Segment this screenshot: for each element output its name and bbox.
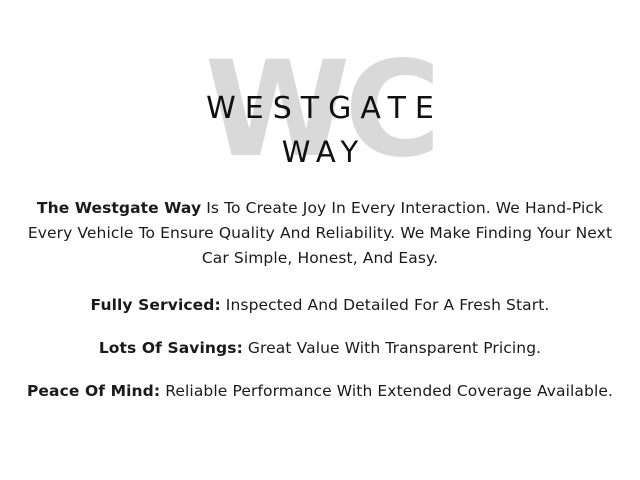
feature-peace-of-mind-rest: Reliable Performance With Extended Cover… <box>160 382 613 400</box>
feature-lots-of-savings-rest: Great Value With Transparent Pricing. <box>243 339 541 357</box>
feature-fully-serviced: Fully Serviced: Inspected And Detailed F… <box>14 293 626 318</box>
logo-word-westgate: WESTGATE <box>0 93 640 125</box>
intro-lead: The Westgate Way <box>37 199 201 217</box>
feature-fully-serviced-lead: Fully Serviced: <box>91 296 221 314</box>
feature-peace-of-mind: Peace Of Mind: Reliable Performance With… <box>14 379 626 404</box>
feature-peace-of-mind-lead: Peace Of Mind: <box>27 382 160 400</box>
logo-wordmark: WESTGATE WAY <box>0 93 640 167</box>
feature-lots-of-savings-lead: Lots Of Savings: <box>99 339 243 357</box>
intro-paragraph: The Westgate Way Is To Create Joy In Eve… <box>14 196 626 271</box>
logo-word-way: WAY <box>0 137 640 167</box>
brand-logo: WC WESTGATE WAY <box>0 0 640 185</box>
feature-fully-serviced-rest: Inspected And Detailed For A Fresh Start… <box>221 296 550 314</box>
promo-copy: The Westgate Way Is To Create Joy In Eve… <box>14 196 626 404</box>
promo-panel: WC WESTGATE WAY The Westgate Way Is To C… <box>0 0 640 480</box>
feature-lots-of-savings: Lots Of Savings: Great Value With Transp… <box>14 336 626 361</box>
